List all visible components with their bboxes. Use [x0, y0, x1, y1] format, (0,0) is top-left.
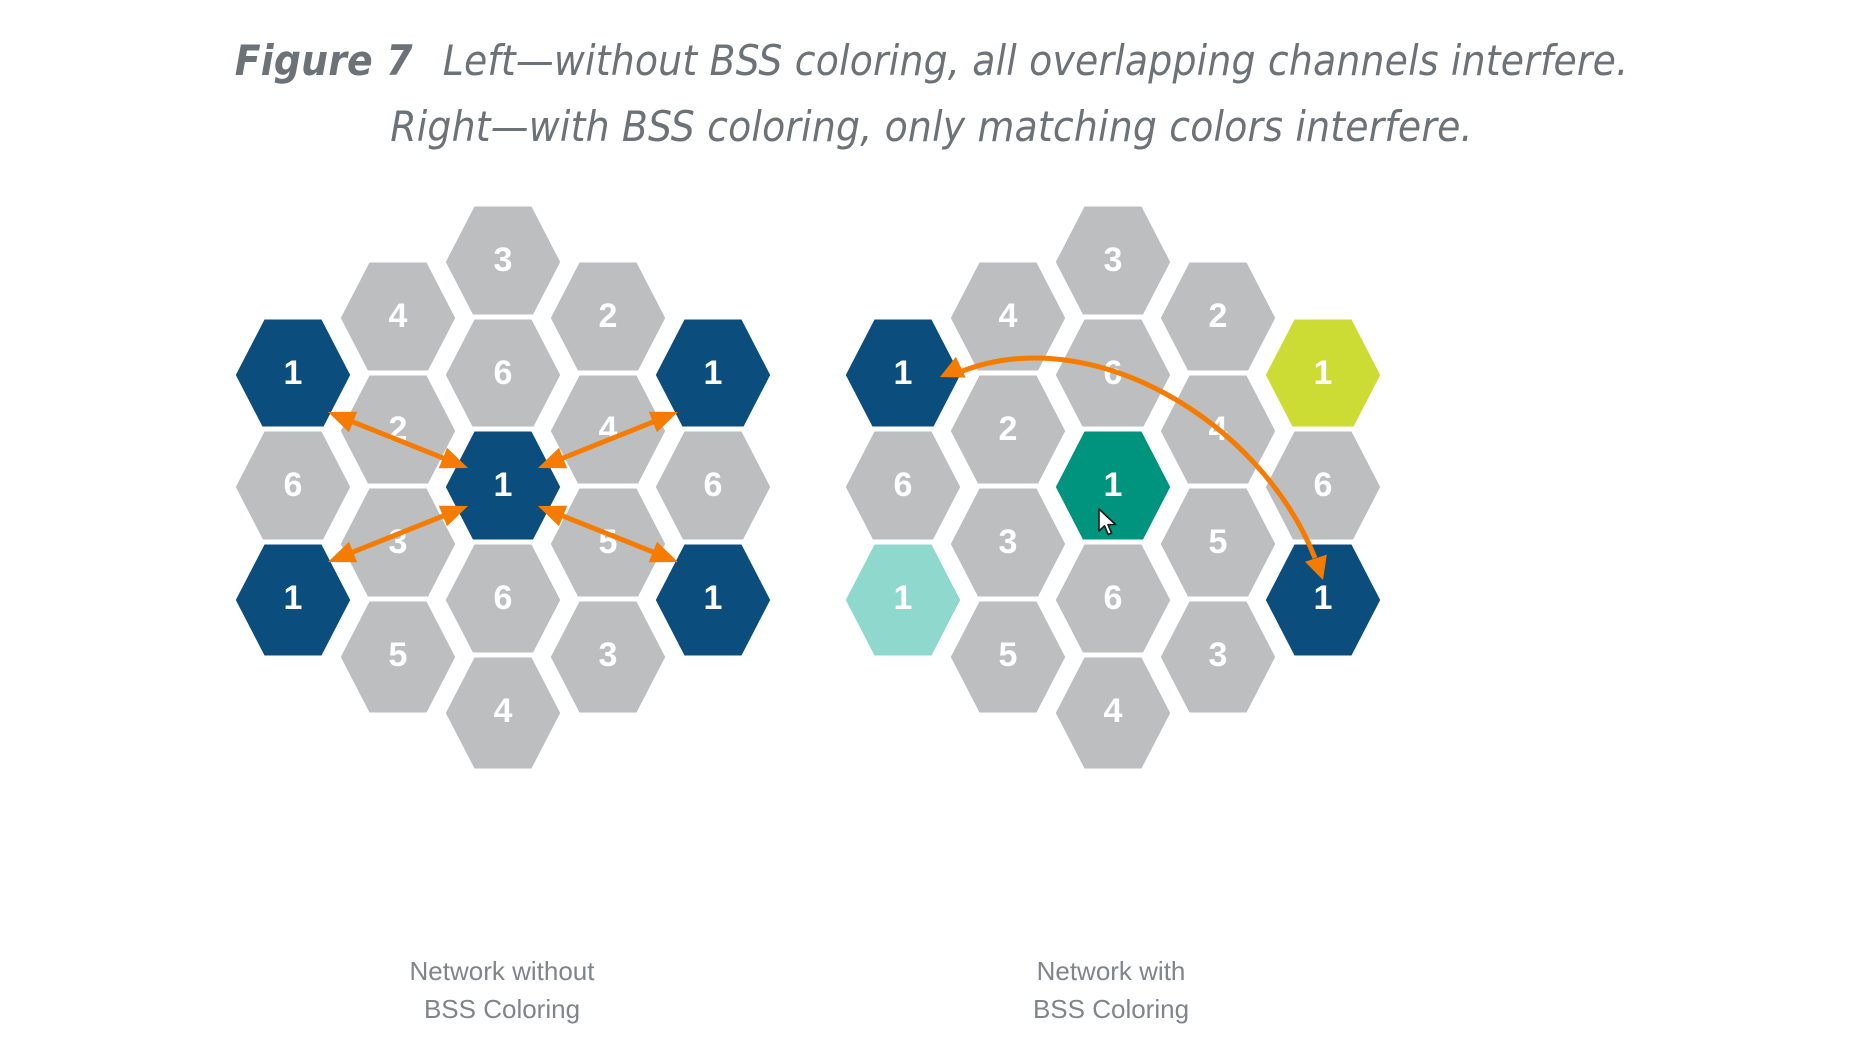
hex-cell[interactable]: 5 [338, 599, 458, 715]
hex-cell[interactable]: 1 [1263, 317, 1383, 433]
hex-channel-label: 5 [1209, 523, 1228, 561]
caption-line-2: Right—with BSS coloring, only matching c… [0, 94, 1863, 160]
hex-cell[interactable]: 6 [1263, 429, 1383, 545]
hex-cell[interactable]: 5 [548, 486, 668, 602]
hex-channel-label: 6 [494, 354, 513, 392]
left-caption-line-1: Network without [302, 952, 702, 990]
hex-channel-label: 1 [1314, 579, 1333, 617]
hex-channel-label: 1 [894, 354, 913, 392]
hex-channel-label: 3 [1104, 241, 1123, 279]
hex-cell[interactable]: 2 [338, 373, 458, 489]
hex-channel-label: 6 [1314, 466, 1333, 504]
figure-label: Figure 7 [235, 36, 413, 85]
hex-cell[interactable]: 2 [948, 373, 1068, 489]
mouse-cursor [1098, 508, 1120, 538]
hex-channel-label: 4 [1104, 692, 1123, 730]
right-grid-caption: Network with BSS Coloring [911, 952, 1311, 1028]
hex-cell[interactable]: 3 [443, 204, 563, 320]
hex-cell[interactable]: 6 [443, 317, 563, 433]
hex-channel-label: 1 [894, 579, 913, 617]
hex-cell[interactable]: 6 [1053, 317, 1173, 433]
hex-cell[interactable]: 6 [1053, 542, 1173, 658]
hex-channel-label: 5 [389, 636, 408, 674]
hex-cell[interactable]: 4 [443, 655, 563, 771]
hex-channel-label: 2 [1209, 297, 1228, 335]
hex-cell[interactable]: 6 [443, 542, 563, 658]
caption-text-2: Right—with BSS coloring, only matching c… [390, 102, 1472, 151]
hex-channel-label: 1 [494, 466, 513, 504]
hex-channel-label: 3 [999, 523, 1018, 561]
hex-cell[interactable]: 6 [233, 429, 353, 545]
hex-channel-label: 3 [494, 241, 513, 279]
hex-cell[interactable]: 2 [548, 260, 668, 376]
hex-cell[interactable]: 4 [548, 373, 668, 489]
right-caption-line-2: BSS Coloring [911, 990, 1311, 1028]
diagram-stage: 1614235361642453161 1614235361642453161 [0, 180, 1863, 820]
network-without-bss-coloring-grid: 1614235361642453161 [180, 180, 880, 820]
hex-channel-label: 5 [999, 636, 1018, 674]
hex-channel-label: 4 [389, 297, 408, 335]
hex-channel-label: 1 [1104, 466, 1123, 504]
caption-text-1: Left—without BSS coloring, all overlappi… [443, 36, 1629, 85]
hex-cell[interactable]: 1 [443, 429, 563, 545]
hex-cell[interactable]: 4 [1053, 655, 1173, 771]
hex-cell[interactable]: 6 [843, 429, 963, 545]
hex-cell[interactable]: 3 [1158, 599, 1278, 715]
hex-channel-label: 3 [599, 636, 618, 674]
hex-channel-label: 4 [999, 297, 1018, 335]
hex-cell[interactable]: 4 [338, 260, 458, 376]
hex-cell[interactable]: 2 [1158, 260, 1278, 376]
hex-channel-label: 2 [599, 297, 618, 335]
hex-channel-label: 6 [894, 466, 913, 504]
network-with-bss-coloring-grid: 1614235361642453161 [790, 180, 1490, 820]
hex-channel-label: 1 [704, 354, 723, 392]
hex-cell[interactable]: 5 [1158, 486, 1278, 602]
hex-cell[interactable]: 3 [1053, 204, 1173, 320]
hex-cell[interactable]: 3 [948, 486, 1068, 602]
left-grid-caption: Network without BSS Coloring [302, 952, 702, 1028]
figure-caption: Figure 7Left—without BSS coloring, all o… [0, 28, 1863, 160]
hex-cell[interactable]: 1 [843, 542, 963, 658]
caption-line-1: Figure 7Left—without BSS coloring, all o… [0, 28, 1863, 94]
hex-channel-label: 6 [284, 466, 303, 504]
hex-channel-label: 1 [284, 354, 303, 392]
hex-cell[interactable]: 3 [338, 486, 458, 602]
hex-channel-label: 1 [284, 579, 303, 617]
hex-channel-label: 6 [494, 579, 513, 617]
hex-channel-label: 1 [704, 579, 723, 617]
hex-cell[interactable]: 3 [548, 599, 668, 715]
hex-channel-label: 6 [1104, 579, 1123, 617]
hex-cell[interactable]: 5 [948, 599, 1068, 715]
hex-channel-label: 3 [1209, 636, 1228, 674]
hex-channel-label: 1 [1314, 354, 1333, 392]
right-caption-line-1: Network with [911, 952, 1311, 990]
left-caption-line-2: BSS Coloring [302, 990, 702, 1028]
hex-channel-label: 6 [704, 466, 723, 504]
hex-cell[interactable]: 6 [653, 429, 773, 545]
hex-channel-label: 4 [494, 692, 513, 730]
hex-channel-label: 2 [999, 410, 1018, 448]
